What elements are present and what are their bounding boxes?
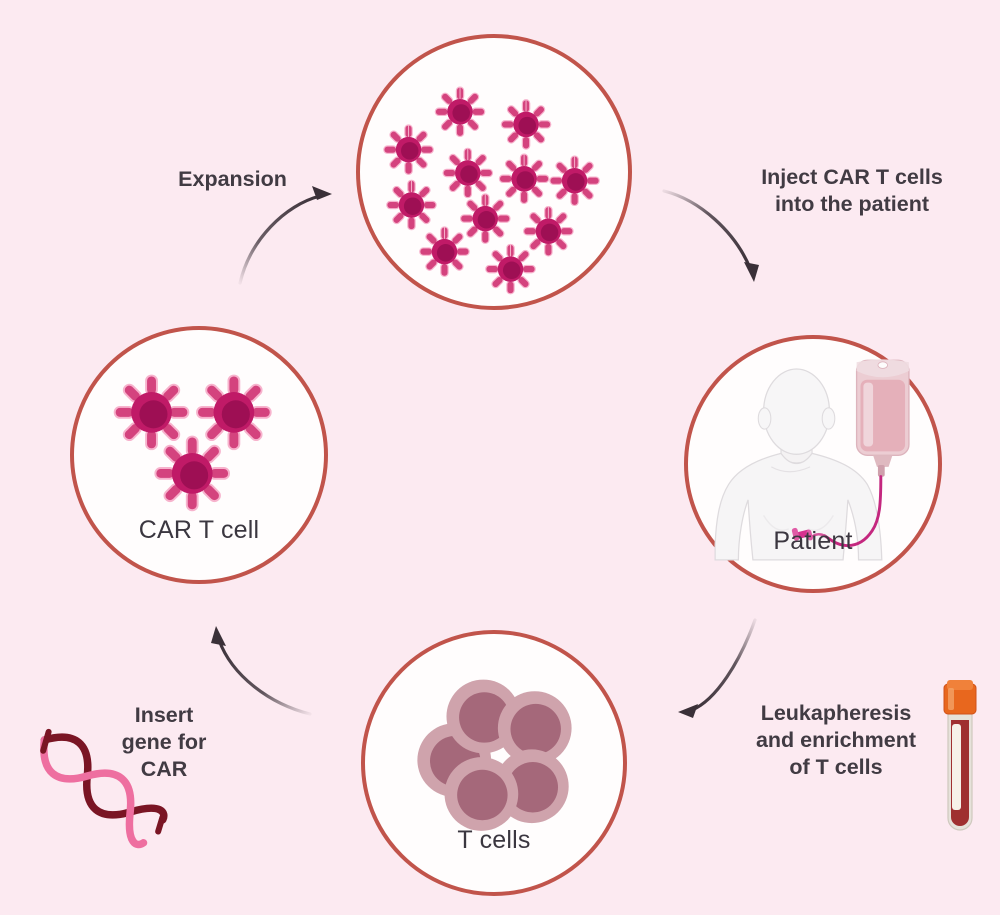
node-car-t-cell[interactable]: CAR T cell	[70, 326, 328, 584]
arrow-to-car-t-cell	[211, 626, 310, 714]
node-expansion-cells[interactable]	[356, 34, 632, 310]
step-label-inject: Inject CAR T cells into the patient	[722, 164, 982, 218]
node-patient[interactable]: Patient	[684, 335, 942, 593]
arrow-to-expansion	[240, 186, 332, 283]
diagram-canvas: CAR T cell	[0, 0, 1000, 915]
step-label-expansion: Expansion	[110, 166, 355, 193]
node-label-patient: Patient	[688, 527, 938, 556]
car-t-cells-many	[360, 38, 628, 306]
step-label-leukapheresis: Leukapheresis and enrichment of T cells	[718, 700, 954, 781]
iv-infusion-bag	[857, 359, 909, 476]
node-label-t-cells: T cells	[365, 826, 623, 855]
step-label-insert-gene: Insert gene for CAR	[90, 702, 238, 783]
node-label-car-t-cell: CAR T cell	[74, 516, 324, 545]
node-t-cells[interactable]: T cells	[361, 630, 627, 896]
